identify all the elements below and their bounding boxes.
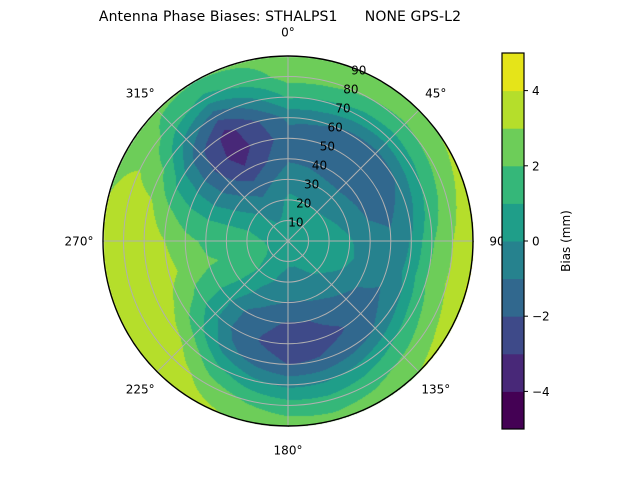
colorbar-tick-label-1: −2 bbox=[532, 310, 550, 324]
colorbar-tick-label-3: 2 bbox=[532, 159, 540, 173]
colorbar-band-2 bbox=[502, 316, 524, 354]
colorbar-band-0 bbox=[502, 391, 524, 429]
figure-canvas: Antenna Phase Biases: STHALPS1 NONE GPS-… bbox=[0, 0, 640, 480]
radial-tick-label-40: 40 bbox=[312, 159, 327, 173]
angular-tick-label-270: 270° bbox=[65, 235, 94, 249]
colorbar-axis-label: Bias (mm) bbox=[559, 210, 573, 272]
radial-tick-label-80: 80 bbox=[343, 83, 358, 97]
polar-contour-svg: 0°45°90135°180°225°270°315°1020304050607… bbox=[0, 0, 640, 480]
angular-tick-label-0: 0° bbox=[281, 26, 295, 40]
colorbar-band-5 bbox=[502, 203, 524, 241]
radial-tick-label-30: 30 bbox=[304, 178, 319, 192]
colorbar-band-4 bbox=[502, 241, 524, 279]
colorbar-band-1 bbox=[502, 354, 524, 392]
colorbar-band-3 bbox=[502, 279, 524, 317]
colorbar-band-6 bbox=[502, 166, 524, 204]
angular-tick-label-45: 45° bbox=[425, 87, 446, 101]
colorbar-band-8 bbox=[502, 91, 524, 129]
radial-tick-label-70: 70 bbox=[335, 102, 350, 116]
radial-tick-label-90: 90 bbox=[351, 64, 366, 78]
polar-plot-area: 0°45°90135°180°225°270°315°1020304050607… bbox=[0, 0, 640, 480]
colorbar-tick-label-0: −4 bbox=[532, 385, 550, 399]
colorbar-tick-label-2: 0 bbox=[532, 235, 540, 249]
angular-tick-label-180: 180° bbox=[274, 444, 303, 458]
angular-tick-label-225: 225° bbox=[126, 382, 155, 396]
radial-tick-label-20: 20 bbox=[296, 197, 311, 211]
colorbar-tick-label-4: 4 bbox=[532, 84, 540, 98]
radial-tick-label-60: 60 bbox=[328, 121, 343, 135]
radial-tick-label-10: 10 bbox=[288, 216, 303, 230]
colorbar-band-9 bbox=[502, 53, 524, 91]
angular-tick-label-315: 315° bbox=[126, 87, 155, 101]
radial-tick-label-50: 50 bbox=[320, 140, 335, 154]
angular-tick-label-135: 135° bbox=[421, 382, 450, 396]
colorbar-band-7 bbox=[502, 128, 524, 166]
